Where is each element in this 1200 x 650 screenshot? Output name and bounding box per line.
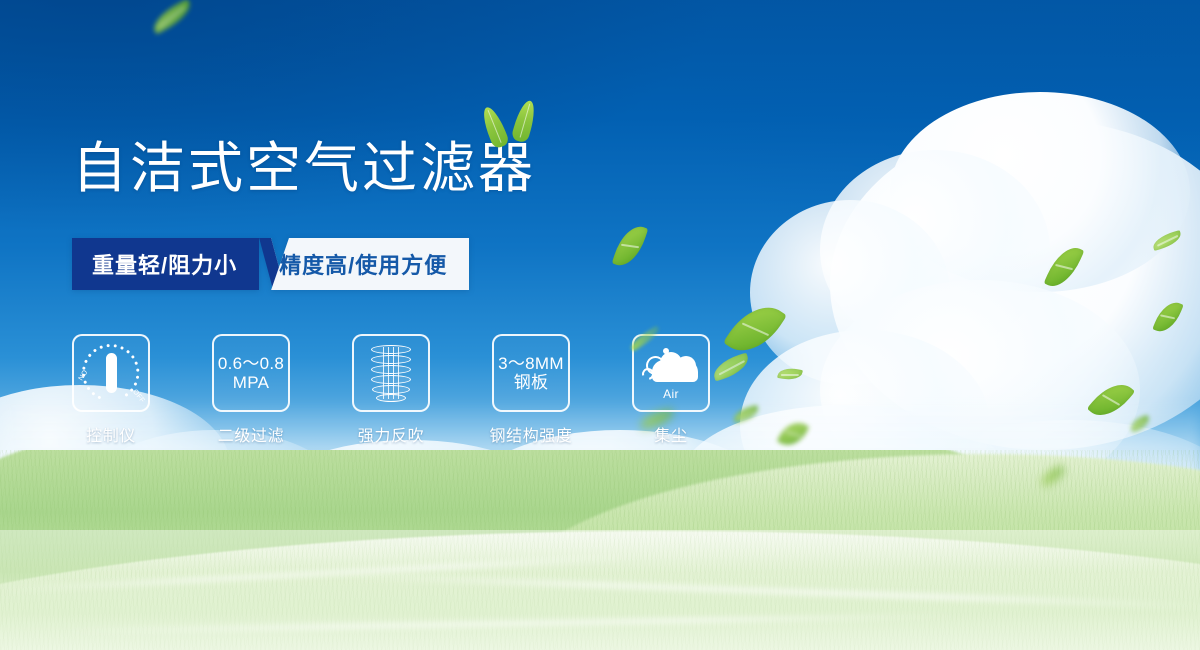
subtitle-right-segment: 精度高/使用方便 [271,238,469,290]
cloud-right-lobe4 [740,330,990,520]
leaf-cloud-5 [1129,415,1152,432]
steel-material: 钢板 [498,373,564,392]
feature-label-control-dial: 控制仪 [86,422,136,446]
leaf-mid-780b [777,416,810,451]
leaf-cloud-4 [1087,375,1135,425]
cloud-right-upper [890,92,1190,292]
leaf-cloud-2 [1151,230,1183,251]
leaf-mid-735 [732,405,760,423]
field-line-2 [330,573,1200,610]
steel-plate-text-icon: 3～8MM 钢板 [498,354,564,392]
leaf-mid-715 [710,353,752,382]
leaf-top-left [149,0,196,34]
pressure-unit: MPA [218,373,284,392]
feature-item-blowback[interactable]: 强力反吹 [352,334,430,446]
title-leaf-pair-icon [480,98,550,150]
feature-label-steel-strength: 钢结构强度 [490,422,573,446]
feature-box-dust-collection[interactable]: Air [632,334,710,412]
air-caption: Air [640,387,702,401]
dust-dot [663,348,669,354]
feature-list: NO OFF 控制仪 0.6～0.8 MPA 二级过滤 [72,334,710,446]
feature-label-secondary-filter: 二级过滤 [218,422,284,446]
feature-label-blowback: 强力反吹 [358,422,424,446]
control-dial-icon: NO OFF [80,342,142,404]
subtitle-left-segment: 重量轻/阻力小 [72,238,259,290]
pressure-value: 0.6～0.8 [218,354,284,373]
feature-box-control-dial[interactable]: NO OFF [72,334,150,412]
dial-pointer [106,353,117,393]
hill-background [0,450,1116,592]
cloud-horizon-f [900,420,1200,570]
grass-highlight [0,530,1200,650]
feature-box-steel-strength[interactable]: 3～8MM 钢板 [492,334,570,412]
leaf-mid-740 [723,294,787,363]
field-line-1 [0,554,639,592]
leaf-mid-780 [777,366,803,382]
leaf-mid-620 [612,221,648,270]
feature-item-steel-strength[interactable]: 3～8MM 钢板 钢结构强度 [492,334,570,446]
pressure-text-icon: 0.6～0.8 MPA [218,354,284,392]
title-leaf-right-icon [511,98,539,143]
cloud-right-lobe3 [820,280,1140,500]
cloud-puff-2 [676,356,696,376]
cloud-horizon-b [90,430,340,550]
cloud-horizon-e [680,405,1010,555]
cloud-horizon-d [470,430,770,560]
feature-item-secondary-filter[interactable]: 0.6～0.8 MPA 二级过滤 [212,334,290,446]
feature-item-control-dial[interactable]: NO OFF 控制仪 [72,334,150,446]
cloud-right-main [830,120,1200,450]
cloud-horizon-c [270,440,550,550]
title-block: 自洁式空气过滤器 [72,140,536,198]
air-cloud-icon: Air [640,344,702,402]
page-title: 自洁式空气过滤器 [72,140,536,198]
cloud-right-lobe1 [820,150,1050,350]
cloud-horizon-g [0,470,360,580]
feature-box-blowback[interactable] [352,334,430,412]
leaf-lower-right [1039,465,1068,487]
hill-right [504,454,1200,604]
grass-field [0,450,1200,650]
cloud-right-lobe2 [750,200,950,385]
product-banner: 自洁式空气过滤器 重量轻/阻力小 精度高/使用方便 [0,0,1200,650]
subtitle-bar: 重量轻/阻力小 精度高/使用方便 [72,238,469,290]
feature-label-dust-collection: 集尘 [654,422,687,446]
field-line-3 [60,613,960,634]
hill-foreground [0,531,1200,650]
steel-thickness: 3～8MM [498,354,564,373]
leaf-cloud-3 [1152,297,1183,336]
leaf-cloud-1 [1044,241,1085,293]
feature-box-secondary-filter[interactable]: 0.6～0.8 MPA [212,334,290,412]
blowback-spiral-icon [366,344,416,402]
grass-texture [0,450,1200,650]
feature-item-dust-collection[interactable]: Air 集尘 [632,334,710,446]
title-leaf-left-icon [479,104,510,149]
